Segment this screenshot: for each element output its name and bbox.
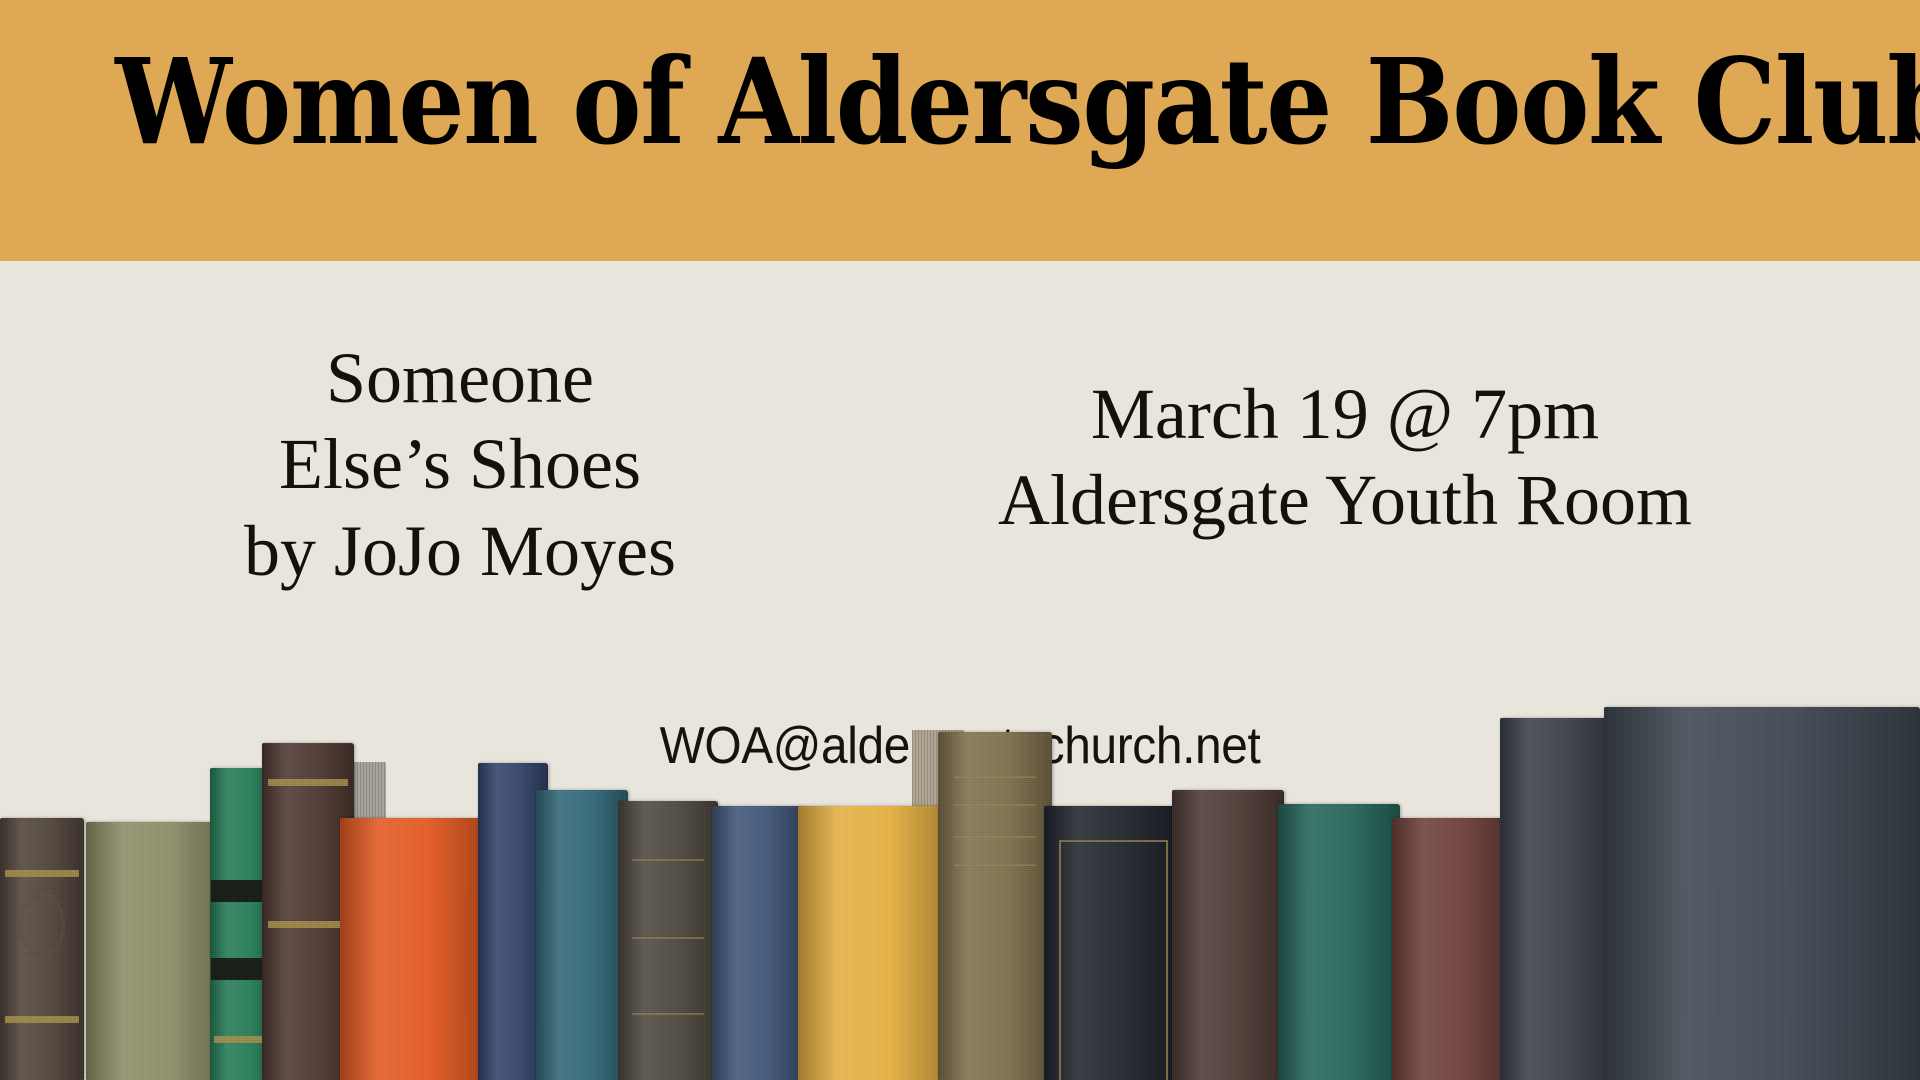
contact-email-link[interactable]: WOA@aldersgatechurch.net [77, 716, 1843, 776]
header-banner: Women of Aldersgate Book Club [0, 0, 1920, 261]
poster-canvas: Women of Aldersgate Book Club Someone El… [0, 0, 1920, 1080]
event-details-text: March 19 @ 7pm Aldersgate Youth Room [830, 371, 1860, 544]
book-selection-text: Someone Else’s Shoes by JoJo Moyes [60, 335, 860, 594]
poster-body: Someone Else’s Shoes by JoJo Moyes March… [0, 261, 1920, 1080]
page-title: Women of Aldersgate Book Club [115, 43, 1805, 161]
